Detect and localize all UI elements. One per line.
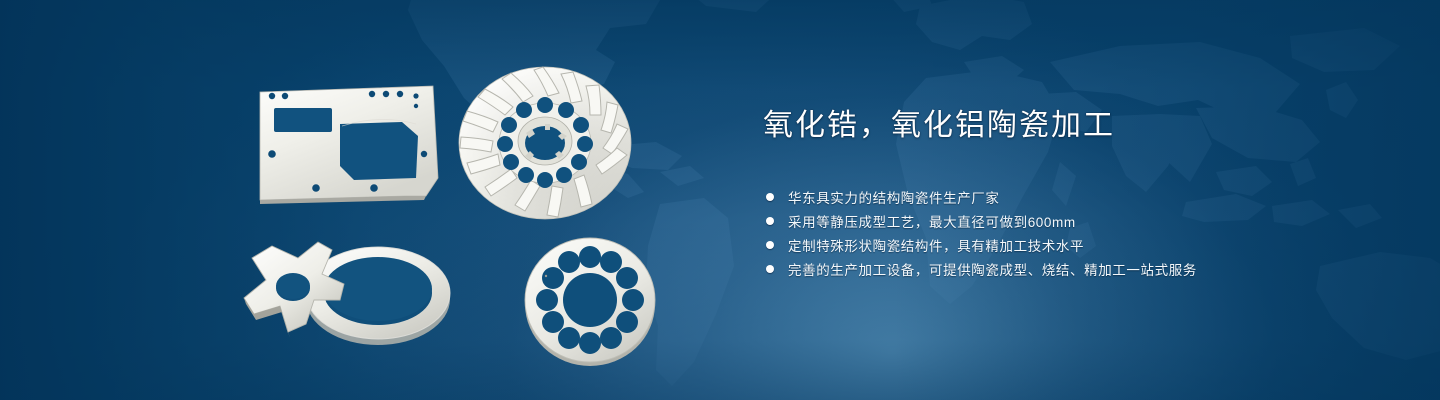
bullet-dot-icon: [766, 193, 774, 201]
list-item: 完善的生产加工设备，可提供陶瓷成型、烧结、精加工一站式服务: [766, 262, 1383, 276]
hero-banner: 氧化锆，氧化铝陶瓷加工 华东具实力的结构陶瓷件生产厂家 采用等静压成型工艺，最大…: [0, 0, 1440, 400]
list-item: 定制特殊形状陶瓷结构件，具有精加工技术水平: [766, 238, 1383, 252]
bullet-dot-icon: [766, 265, 774, 273]
list-item: 采用等静压成型工艺，最大直径可做到600mm: [766, 214, 1383, 228]
bullet-dot-icon: [766, 241, 774, 249]
banner-copy: 氧化锆，氧化铝陶瓷加工 华东具实力的结构陶瓷件生产厂家 采用等静压成型工艺，最大…: [763, 108, 1383, 286]
feature-list: 华东具实力的结构陶瓷件生产厂家 采用等静压成型工艺，最大直径可做到600mm 定…: [766, 190, 1383, 276]
page-title: 氧化锆，氧化铝陶瓷加工: [763, 108, 1383, 144]
list-item-label: 定制特殊形状陶瓷结构件，具有精加工技术水平: [788, 235, 1084, 255]
list-item-label: 完善的生产加工设备，可提供陶瓷成型、烧结、精加工一站式服务: [788, 259, 1197, 279]
list-item: 华东具实力的结构陶瓷件生产厂家: [766, 190, 1383, 204]
list-item-label: 华东具实力的结构陶瓷件生产厂家: [788, 187, 1000, 207]
list-item-label: 采用等静压成型工艺，最大直径可做到600mm: [788, 211, 1076, 231]
bullet-dot-icon: [766, 217, 774, 225]
